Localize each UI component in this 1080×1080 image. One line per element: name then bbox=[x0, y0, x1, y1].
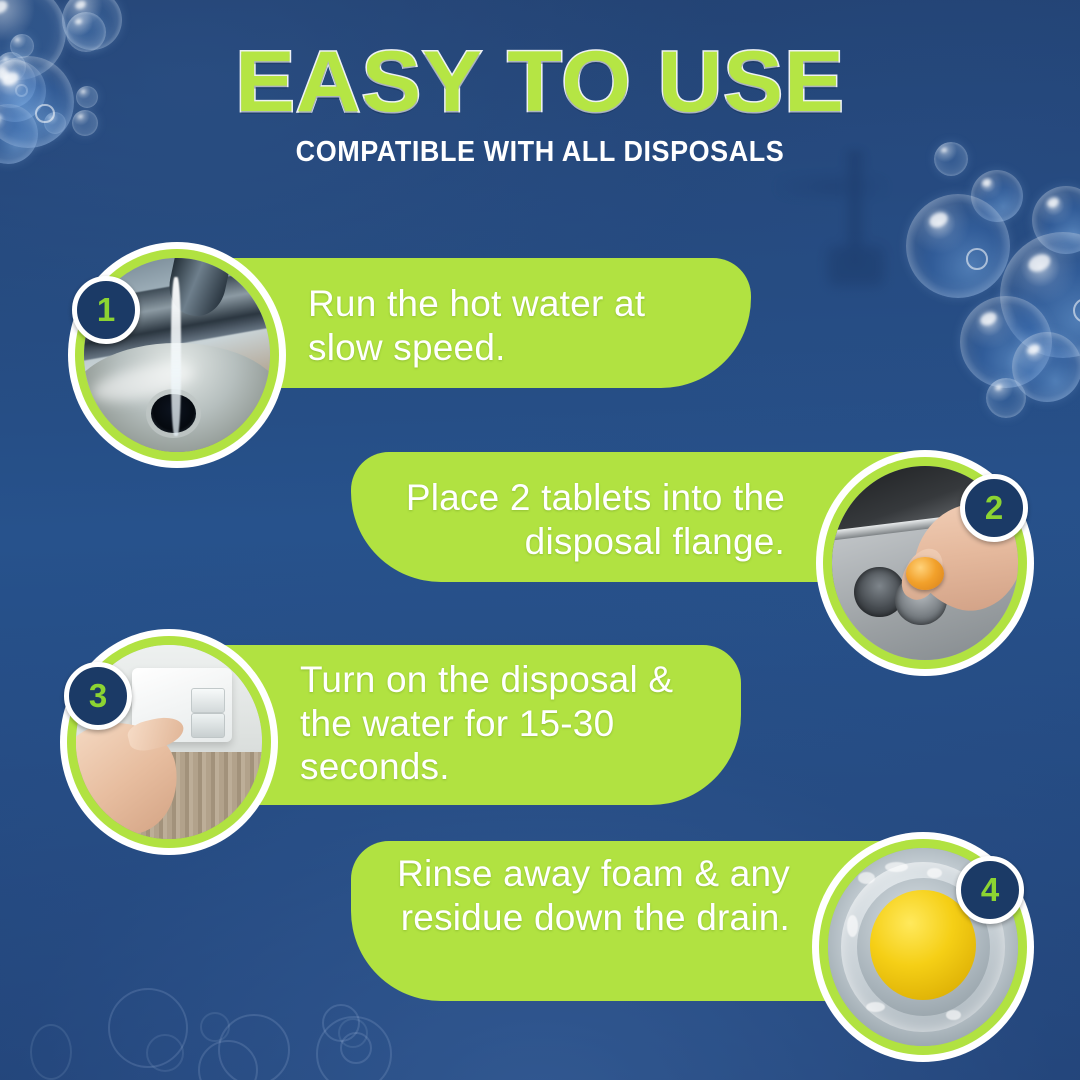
step-item-4: Rinse away foam & any residue down the d… bbox=[0, 0, 545, 66]
ghost-bubble-icon bbox=[146, 1034, 184, 1072]
page-subtitle: COMPATIBLE WITH ALL DISPOSALS bbox=[38, 136, 1042, 169]
ghost-bubble-icon bbox=[322, 1004, 360, 1042]
step-text: Turn on the disposal & the water for 15-… bbox=[300, 658, 730, 789]
step-text: Run the hot water at slow speed. bbox=[308, 282, 728, 369]
step-number-badge: 2 bbox=[960, 474, 1028, 542]
infographic-poster: EASY TO USE COMPATIBLE WITH ALL DISPOSAL… bbox=[0, 0, 1080, 1080]
bubble-icon bbox=[906, 194, 1010, 298]
step-number-badge: 4 bbox=[956, 856, 1024, 924]
step-number-badge: 3 bbox=[64, 662, 132, 730]
step-text: Place 2 tablets into the disposal flange… bbox=[365, 476, 785, 563]
banner-tail bbox=[0, 0, 545, 66]
step-text: Rinse away foam & any residue down the d… bbox=[360, 852, 790, 939]
bubble-icon bbox=[1012, 332, 1080, 402]
ghost-bubble-icon bbox=[218, 1014, 290, 1080]
ghost-bubble-icon bbox=[30, 1024, 72, 1080]
step-number-badge: 1 bbox=[72, 276, 140, 344]
